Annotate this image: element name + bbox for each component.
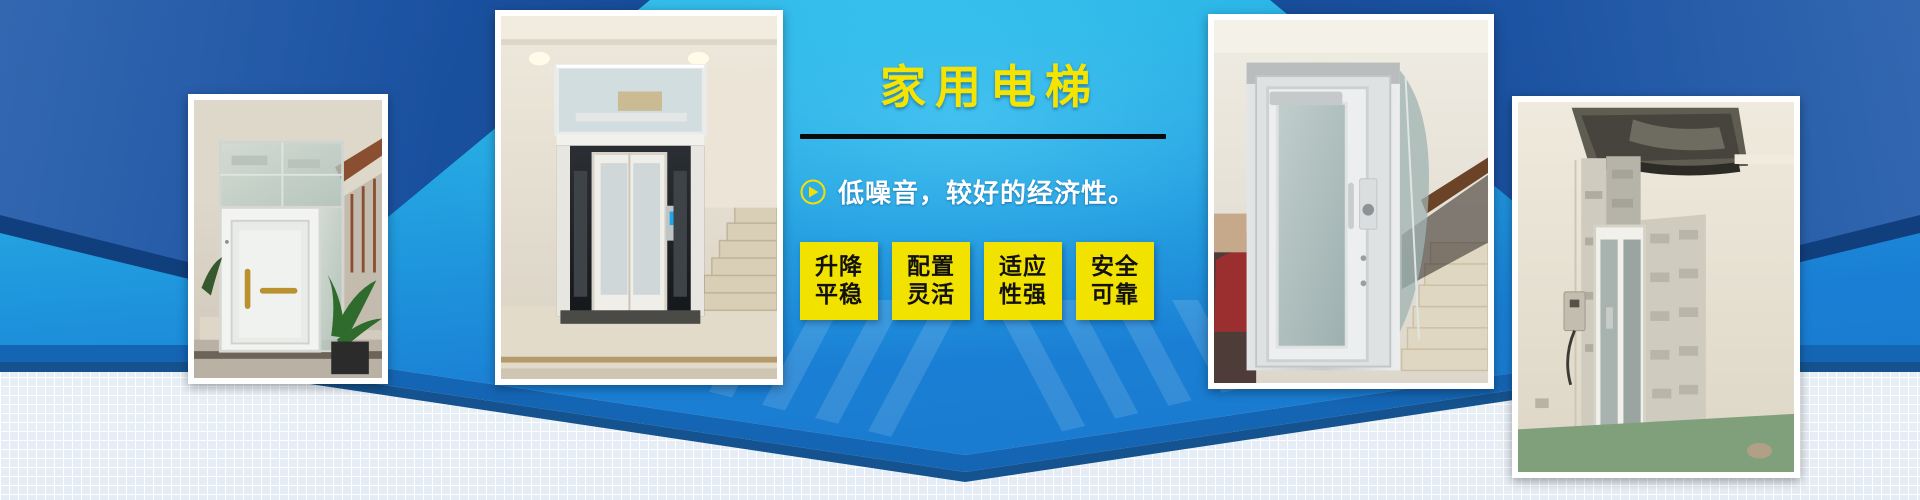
feature-tag-line1: 配置	[907, 253, 955, 281]
product-photo-3-image	[1214, 20, 1488, 383]
banner-content: 家用电梯 低噪音，较好的经济性。 升降 平稳 配置 灵活 适应 性强	[800, 64, 1180, 320]
feature-tag-list: 升降 平稳 配置 灵活 适应 性强 安全 可靠	[800, 242, 1180, 320]
feature-tag-line2: 性强	[999, 281, 1047, 309]
product-photo-1[interactable]	[188, 94, 388, 384]
product-photo-4[interactable]	[1512, 96, 1800, 478]
feature-tag-line2: 平稳	[815, 281, 863, 309]
feature-tag[interactable]: 适应 性强	[984, 242, 1062, 320]
feature-tag[interactable]: 安全 可靠	[1076, 242, 1154, 320]
feature-tag-line1: 适应	[999, 253, 1047, 281]
product-photo-1-image	[194, 100, 382, 378]
feature-tag[interactable]: 升降 平稳	[800, 242, 878, 320]
subtitle-row: 低噪音，较好的经济性。	[800, 173, 1180, 210]
feature-tag-line2: 可靠	[1091, 281, 1139, 309]
product-photo-2[interactable]	[495, 10, 783, 385]
title-divider	[800, 134, 1166, 139]
product-photo-4-image	[1518, 102, 1794, 472]
circled-right-arrow-icon	[800, 179, 826, 205]
product-photo-3[interactable]	[1208, 14, 1494, 389]
feature-tag-line2: 灵活	[907, 281, 955, 309]
product-photo-2-image	[501, 16, 777, 379]
home-elevator-banner: 家用电梯 低噪音，较好的经济性。 升降 平稳 配置 灵活 适应 性强	[0, 0, 1920, 500]
feature-tag-line1: 升降	[815, 253, 863, 281]
feature-tag-line1: 安全	[1091, 253, 1139, 281]
subtitle-text: 低噪音，较好的经济性。	[838, 173, 1135, 210]
page-title: 家用电梯	[800, 64, 1180, 110]
feature-tag[interactable]: 配置 灵活	[892, 242, 970, 320]
